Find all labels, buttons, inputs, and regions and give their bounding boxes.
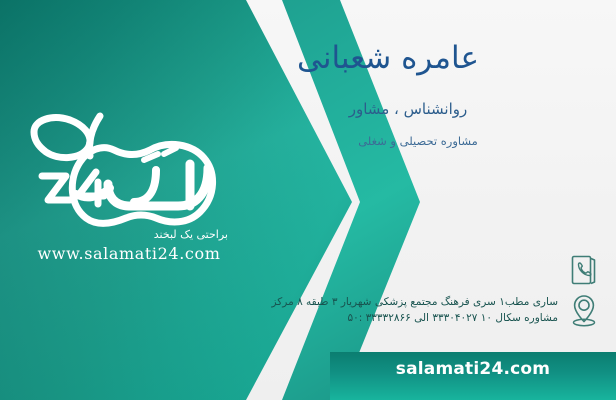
contact-details: ساری مطب۱ سری فرهنگ مجتمع پزشکی شهریار ۳… xyxy=(272,294,558,327)
contact-row-address: ساری مطب۱ سری فرهنگ مجتمع پزشکی شهریار ۳… xyxy=(302,292,602,328)
business-card: براحتی یک لبخند www.salamati24.com عامره… xyxy=(0,0,616,400)
person-role: روانشناس ، مشاور xyxy=(218,100,598,118)
contact-block: ساری مطب۱ سری فرهنگ مجتمع پزشکی شهریار ۳… xyxy=(302,252,602,332)
apple-leaf-icon xyxy=(34,118,90,158)
logo-artwork xyxy=(18,110,258,230)
person-specialty: مشاوره تحصیلی و شغلی xyxy=(238,134,598,148)
contact-address: ساری مطب۱ سری فرهنگ مجتمع پزشکی شهریار ۳… xyxy=(272,294,558,310)
map-pin-icon xyxy=(566,292,602,328)
logo-tagline: براحتی یک لبخند xyxy=(18,228,228,241)
person-name: عامره شعبانی xyxy=(178,40,598,77)
brand-logo: براحتی یک لبخند www.salamati24.com xyxy=(18,110,258,270)
footer-bar: salamati24.com xyxy=(330,352,616,400)
badge-digit-four xyxy=(78,172,104,204)
wordmark-meem xyxy=(134,170,156,202)
footer-website[interactable]: salamati24.com xyxy=(396,359,550,379)
contact-row-phonebook xyxy=(302,252,602,288)
contact-phones: مشاوره سکال ۱۰ ۳۳۳۰۴۰۲۷ الی ۳۳۳۳۲۸۶۶ :۵۰ xyxy=(272,310,558,326)
logo-website[interactable]: www.salamati24.com xyxy=(18,244,240,263)
phone-book-icon xyxy=(566,252,602,288)
badge-digit-two xyxy=(42,176,70,200)
